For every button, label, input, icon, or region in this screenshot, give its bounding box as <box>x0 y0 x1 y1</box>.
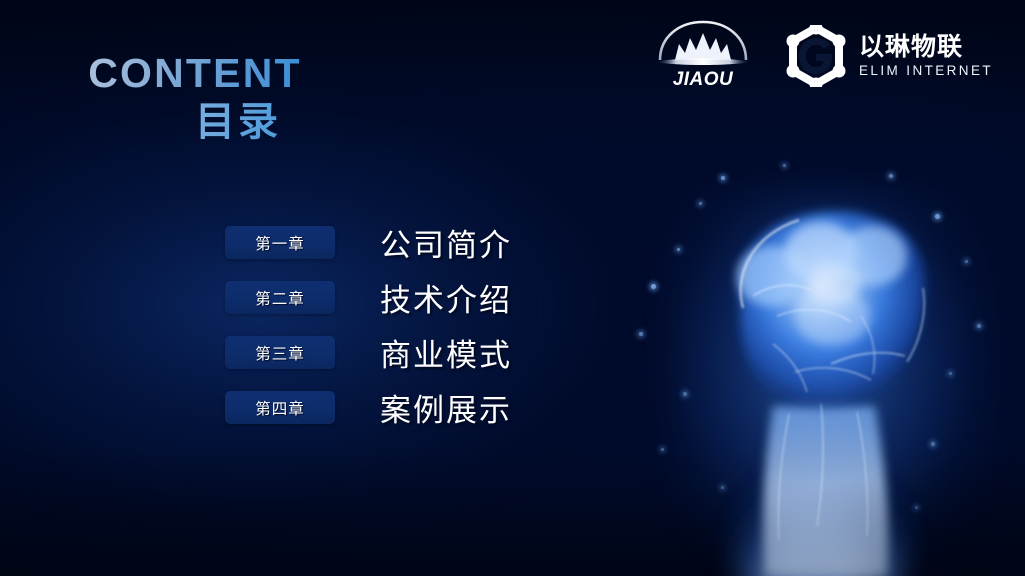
chapter-badge-label: 第一章 <box>255 232 305 254</box>
toc-item-title: 商业模式 <box>380 330 512 375</box>
elim-logo-en: ELIM INTERNET <box>859 64 993 78</box>
chapter-badge-label: 第四章 <box>255 397 305 419</box>
elim-internet-logo: 以琳物联 ELIM INTERNET <box>785 25 993 87</box>
elim-logo-cn: 以琳物联 <box>859 34 993 59</box>
jiaou-wordmark: JIAOU <box>673 69 734 90</box>
presentation-slide: JIAOU 以琳物联 ELIM INTERNET <box>0 0 1025 576</box>
toc-item-3[interactable]: 第三章 商业模式 <box>225 336 512 369</box>
toc-item-1[interactable]: 第一章 公司简介 <box>225 226 512 259</box>
chapter-badge-1[interactable]: 第一章 <box>225 226 335 259</box>
toc-item-title: 案例展示 <box>380 385 512 430</box>
page-title-cn: 目录 <box>0 101 390 143</box>
page-title-en: CONTENT <box>0 52 390 95</box>
chapter-badge-2[interactable]: 第二章 <box>225 281 335 314</box>
toc-item-4[interactable]: 第四章 案例展示 <box>225 391 512 424</box>
table-of-contents: 第一章 公司简介 第二章 技术介绍 第三章 商业模式 第四章 案例展示 <box>225 226 512 446</box>
toc-item-2[interactable]: 第二章 技术介绍 <box>225 281 512 314</box>
chapter-badge-label: 第三章 <box>255 342 305 364</box>
slide-title-block: CONTENT 目录 <box>0 52 390 143</box>
chapter-badge-label: 第二章 <box>255 287 305 309</box>
toc-item-title: 技术介绍 <box>380 275 512 320</box>
chapter-badge-4[interactable]: 第四章 <box>225 391 335 424</box>
jiaou-logo-mark: JIAOU <box>651 16 755 96</box>
jiaou-logo: JIAOU <box>651 16 755 96</box>
header-logos: JIAOU 以琳物联 ELIM INTERNET <box>651 16 993 96</box>
chapter-badge-3[interactable]: 第三章 <box>225 336 335 369</box>
elim-g-molecule-icon <box>785 25 847 87</box>
elim-logo-text: 以琳物联 ELIM INTERNET <box>859 34 993 78</box>
toc-item-title: 公司简介 <box>380 220 512 265</box>
